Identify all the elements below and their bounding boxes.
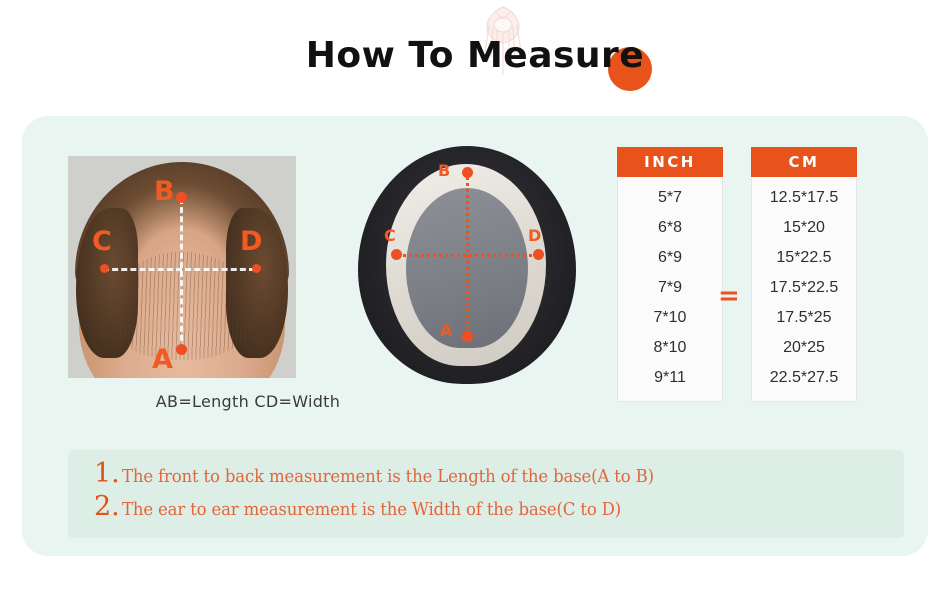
- table-row: 15*20: [752, 213, 856, 243]
- piece-point-a-dot: [462, 331, 473, 342]
- table-row: 12.5*17.5: [752, 183, 856, 213]
- instruction-text: The front to back measurement is the Len…: [122, 466, 654, 487]
- hairpiece-image: B A C D: [350, 138, 586, 394]
- instruction-item: 1. The front to back measurement is the …: [68, 460, 904, 487]
- cm-column: CM 12.5*17.5 15*20 15*22.5 17.5*22.5 17.…: [751, 147, 857, 402]
- piece-label-b: B: [438, 163, 450, 179]
- photo-point-a-dot: [176, 344, 187, 355]
- table-row: 15*22.5: [752, 243, 856, 273]
- measurement-caption: AB=Length CD=Width: [68, 392, 428, 411]
- equals-sign: =: [718, 283, 740, 309]
- table-row: 17.5*22.5: [752, 273, 856, 303]
- photo-length-line: [180, 198, 183, 350]
- cm-body: 12.5*17.5 15*20 15*22.5 17.5*22.5 17.5*2…: [751, 177, 857, 402]
- size-conversion-table: INCH 5*7 6*8 6*9 7*9 7*10 8*10 9*11 = CM…: [595, 147, 855, 392]
- instruction-text: The ear to ear measurement is the Width …: [122, 499, 621, 520]
- piece-point-b-dot: [462, 167, 473, 178]
- title-wrap: How To Measure: [306, 35, 644, 76]
- piece-width-line: [396, 254, 538, 257]
- piece-point-c-dot: [391, 249, 402, 260]
- table-row: 8*10: [618, 333, 722, 363]
- table-row: 22.5*27.5: [752, 363, 856, 393]
- piece-label-c: C: [384, 228, 396, 244]
- head-photo: B A C D: [68, 156, 296, 378]
- instruction-number: 2.: [94, 493, 120, 520]
- table-row: 5*7: [618, 183, 722, 213]
- content-panel: B A C D B A C D AB=Length CD=Width INC: [22, 116, 928, 556]
- table-row: 20*25: [752, 333, 856, 363]
- photo-point-d-dot: [252, 264, 261, 273]
- inch-body: 5*7 6*8 6*9 7*9 7*10 8*10 9*11: [617, 177, 723, 402]
- cm-header: CM: [751, 147, 857, 177]
- table-row: 6*9: [618, 243, 722, 273]
- table-row: 7*9: [618, 273, 722, 303]
- photo-label-b: B: [154, 178, 175, 205]
- table-row: 17.5*25: [752, 303, 856, 333]
- photo-label-a: A: [152, 346, 173, 373]
- photo-label-d: D: [240, 228, 262, 255]
- photo-label-c: C: [92, 228, 112, 255]
- table-row: 7*10: [618, 303, 722, 333]
- inch-header: INCH: [617, 147, 723, 177]
- inch-column: INCH 5*7 6*8 6*9 7*9 7*10 8*10 9*11: [617, 147, 723, 402]
- piece-point-d-dot: [533, 249, 544, 260]
- page-title: How To Measure: [306, 35, 644, 76]
- piece-label-d: D: [528, 228, 541, 244]
- table-row: 6*8: [618, 213, 722, 243]
- instruction-number: 1.: [94, 460, 120, 487]
- instruction-item: 2. The ear to ear measurement is the Wid…: [68, 493, 904, 520]
- piece-label-a: A: [440, 323, 452, 339]
- photo-width-line: [103, 268, 255, 271]
- page-header: How To Measure: [0, 0, 950, 110]
- table-row: 9*11: [618, 363, 722, 393]
- instructions-box: 1. The front to back measurement is the …: [68, 450, 904, 538]
- photo-point-b-dot: [176, 192, 187, 203]
- page-root: How To Measure B A C D: [0, 0, 950, 602]
- photo-point-c-dot: [100, 264, 109, 273]
